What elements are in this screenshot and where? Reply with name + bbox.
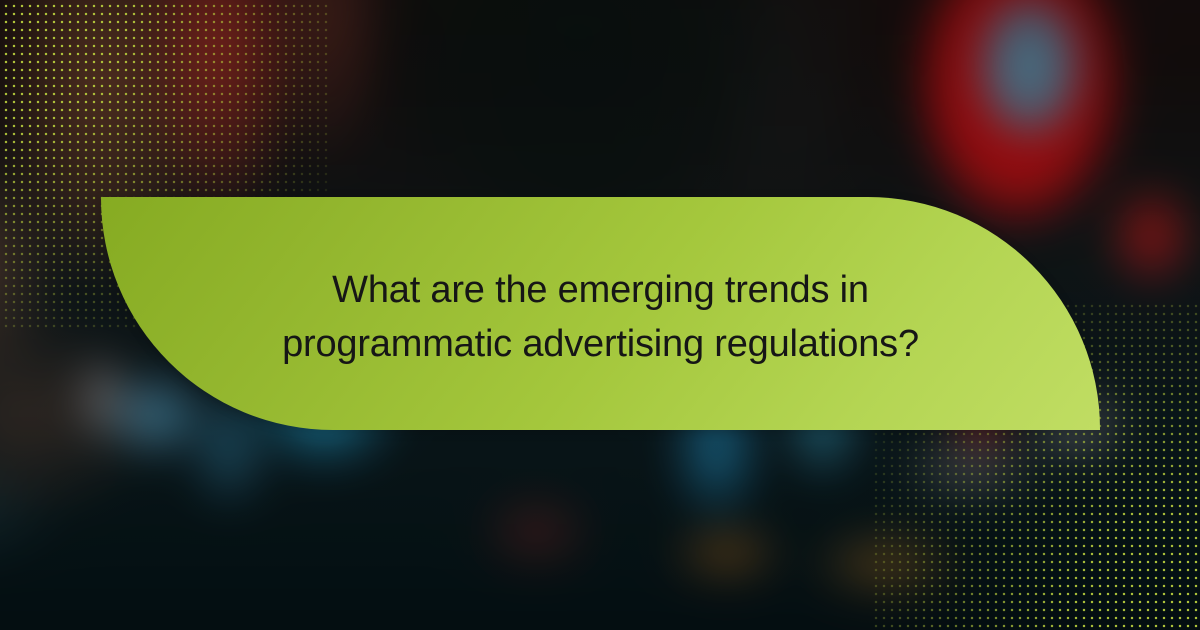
screenshot-canvas: What are the emerging trends in programm… xyxy=(0,0,1200,630)
question-card: What are the emerging trends in programm… xyxy=(101,197,1100,430)
question-heading: What are the emerging trends in programm… xyxy=(241,263,961,371)
